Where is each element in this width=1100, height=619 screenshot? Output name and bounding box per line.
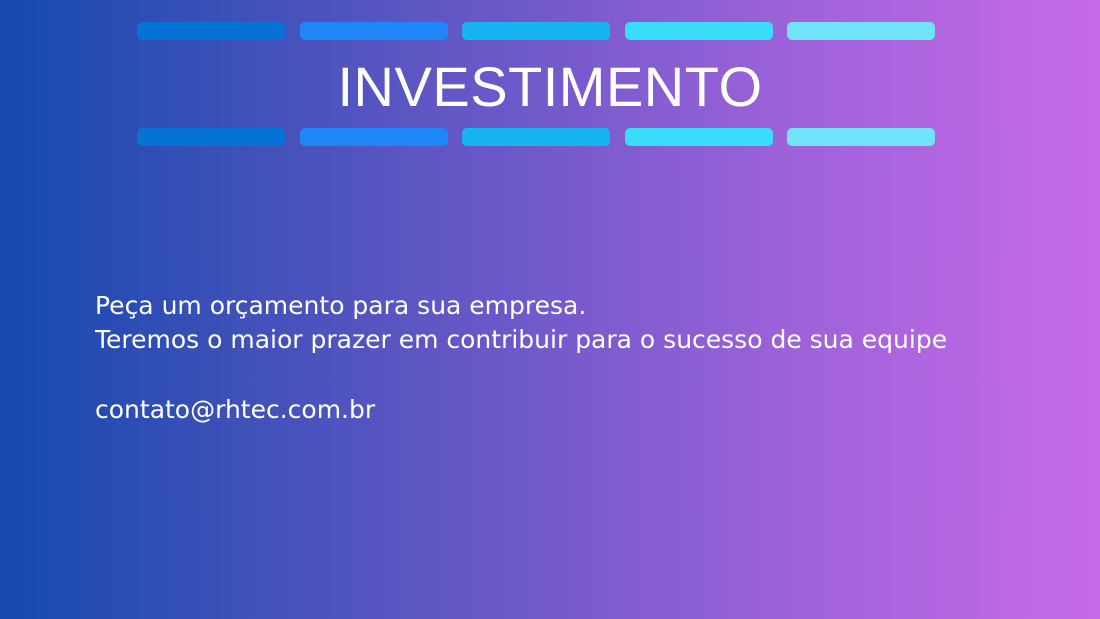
decorative-bar-top-4 (625, 22, 773, 40)
decorative-bar-row-top (137, 22, 935, 40)
decorative-bar-bottom-3 (462, 128, 610, 146)
decorative-bar-bottom-5 (787, 128, 935, 146)
investimento-slide: INVESTIMENTO Peça um orçamento para sua … (0, 0, 1100, 619)
decorative-bar-bottom-4 (625, 128, 773, 146)
page-title: INVESTIMENTO (0, 55, 1100, 119)
decorative-bar-top-3 (462, 22, 610, 40)
body-line-1: Peça um orçamento para sua empresa. (95, 289, 1015, 323)
body-text-block: Peça um orçamento para sua empresa. Tere… (95, 289, 1015, 357)
decorative-bar-bottom-2 (300, 128, 448, 146)
decorative-bar-row-bottom (137, 128, 935, 146)
contact-email[interactable]: contato@rhtec.com.br (95, 393, 375, 427)
decorative-bar-bottom-1 (137, 128, 285, 146)
decorative-bar-top-2 (300, 22, 448, 40)
decorative-bar-top-5 (787, 22, 935, 40)
decorative-bar-top-1 (137, 22, 285, 40)
body-line-2: Teremos o maior prazer em contribuir par… (95, 323, 1015, 357)
